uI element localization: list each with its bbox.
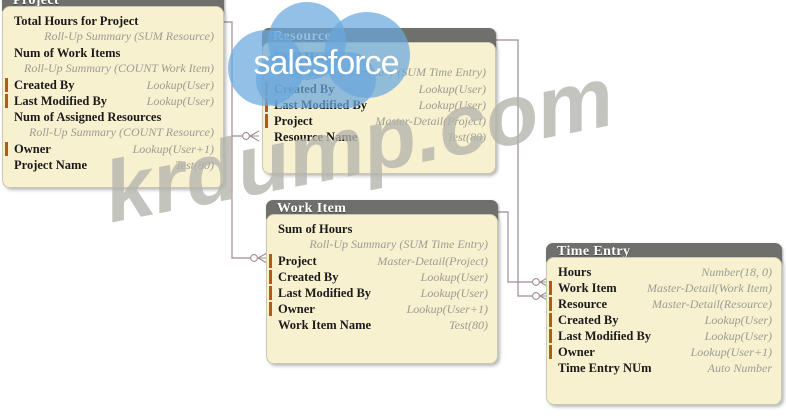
field-list: Total Hours for Project Roll-Up Summary … <box>3 13 223 173</box>
field-row[interactable]: Total Hours for Project Roll-Up Summary … <box>3 13 223 45</box>
field-type: Number(18, 0) <box>701 264 772 280</box>
field-name: Created By <box>558 312 619 328</box>
field-type: Master-Detail(Project) <box>377 253 488 269</box>
field-list: Hours Number(18, 0) Work Item Master-Det… <box>547 264 781 376</box>
relationship-marker-icon <box>549 329 552 343</box>
field-type: Roll-Up Summary (SUM Time Entry) <box>309 236 488 252</box>
field-row[interactable]: Created By Lookup(User) <box>547 312 781 328</box>
field-type: Lookup(User) <box>419 97 486 113</box>
field-name: Num of Assigned Resources <box>14 109 161 125</box>
cardinality-zero-marker <box>533 279 540 286</box>
field-row[interactable]: Sum of Hours Roll-Up Summary (SUM Time E… <box>267 221 497 253</box>
field-type: Test(80) <box>447 129 486 145</box>
field-type: Roll-Up Summary (SUM Resource) <box>44 28 214 44</box>
relationship-marker-icon <box>269 254 272 268</box>
field-type: Master-Detail(Resource) <box>652 296 772 312</box>
field-row[interactable]: Num of Work Items Roll-Up Summary (COUNT… <box>3 45 223 77</box>
field-row[interactable]: Created By Lookup(User) <box>3 77 223 93</box>
field-name: Time Entry NUm <box>558 360 652 376</box>
crowsfoot-resource <box>250 131 259 141</box>
relationship-marker-icon <box>269 286 272 300</box>
field-row[interactable]: Last Modified By Lookup(User) <box>547 328 781 344</box>
relationship-marker-icon <box>5 142 8 156</box>
field-name: Last Modified By <box>278 285 371 301</box>
field-row[interactable]: Work Item Master-Detail(Work Item) <box>547 280 781 296</box>
cardinality-zero-marker <box>243 133 250 140</box>
field-row[interactable]: Resource Master-Detail(Resource) <box>547 296 781 312</box>
field-name: Owner <box>14 141 51 157</box>
field-list: Sum of Hours Roll-Up Summary (SUM Time E… <box>267 221 497 333</box>
field-name: Work Item <box>558 280 617 296</box>
field-row[interactable]: Work Item Name Test(80) <box>267 317 497 333</box>
field-row[interactable]: Resource Name Test(80) <box>263 129 495 145</box>
field-name: Num of Work Items <box>14 45 120 61</box>
field-type: Auto Number <box>708 360 772 376</box>
link-project-workitem <box>232 136 258 258</box>
field-row[interactable]: Hours Number(18, 0) <box>547 264 781 280</box>
field-row[interactable]: Owner Lookup(User+1) <box>267 301 497 317</box>
field-type: Roll-Up Summary (COUNT Resource) <box>29 124 214 140</box>
salesforce-wordmark: salesforce <box>234 44 418 83</box>
field-name: Resource Name <box>274 129 357 145</box>
field-name: Created By <box>14 77 75 93</box>
relationship-marker-icon <box>269 270 272 284</box>
relationship-marker-icon <box>549 313 552 327</box>
field-type: Lookup(User+1) <box>691 344 772 360</box>
field-name: Sum of Hours <box>278 221 352 237</box>
cardinality-zero-marker <box>533 293 540 300</box>
field-type: Master-Detail(Work Item) <box>647 280 772 296</box>
field-row[interactable]: Project Name Test(80) <box>3 157 223 173</box>
relationship-marker-icon <box>549 281 552 295</box>
entity-time-entry[interactable]: Time Entry Hours Number(18, 0) Work Item… <box>546 243 782 405</box>
field-type: Lookup(User) <box>705 312 772 328</box>
relationship-marker-icon <box>549 297 552 311</box>
relationship-marker-icon <box>269 302 272 316</box>
entity-body: Hours Number(18, 0) Work Item Master-Det… <box>546 257 782 405</box>
field-type: Lookup(User+1) <box>133 141 214 157</box>
field-name: Hours <box>558 264 591 280</box>
entity-project[interactable]: Project Total Hours for Project Roll-Up … <box>2 0 224 188</box>
field-row[interactable]: Owner Lookup(User+1) <box>3 141 223 157</box>
cardinality-zero-marker <box>251 255 258 262</box>
field-type: Lookup(User) <box>147 93 214 109</box>
field-type: Lookup(User) <box>421 285 488 301</box>
field-row[interactable]: Owner Lookup(User+1) <box>547 344 781 360</box>
field-type: Roll-Up Summary (COUNT Work Item) <box>24 60 214 76</box>
field-row[interactable]: Last Modified By Lookup(User) <box>3 93 223 109</box>
relationship-marker-icon <box>5 94 8 108</box>
field-row[interactable]: Last Modified By Lookup(User) <box>267 285 497 301</box>
field-name: Created By <box>278 269 339 285</box>
field-name: Last Modified By <box>558 328 651 344</box>
salesforce-cloud-logo: salesforce <box>228 0 418 118</box>
entity-body: Total Hours for Project Roll-Up Summary … <box>2 6 224 188</box>
field-name: Project Name <box>14 157 87 173</box>
field-type: Test(80) <box>175 157 214 173</box>
link-resource-timeentry <box>495 40 540 296</box>
field-name: Total Hours for Project <box>14 13 138 29</box>
field-type: Test(80) <box>449 317 488 333</box>
entity-work-item[interactable]: Work Item Sum of Hours Roll-Up Summary (… <box>266 200 498 364</box>
field-type: Lookup(User) <box>147 77 214 93</box>
field-type: Lookup(User) <box>421 269 488 285</box>
relationship-marker-icon <box>5 78 8 92</box>
entity-body: Sum of Hours Roll-Up Summary (SUM Time E… <box>266 214 498 364</box>
field-row[interactable]: Num of Assigned Resources Roll-Up Summar… <box>3 109 223 141</box>
field-name: Work Item Name <box>278 317 371 333</box>
field-name: Last Modified By <box>14 93 107 109</box>
relationship-marker-icon <box>549 345 552 359</box>
field-name: Owner <box>278 301 315 317</box>
field-type: Lookup(User) <box>419 81 486 97</box>
field-name: Owner <box>558 344 595 360</box>
field-row[interactable]: Created By Lookup(User) <box>267 269 497 285</box>
field-row[interactable]: Project Master-Detail(Project) <box>267 253 497 269</box>
field-name: Resource <box>558 296 607 312</box>
field-type: Lookup(User+1) <box>407 301 488 317</box>
erd-canvas: Project Total Hours for Project Roll-Up … <box>0 0 786 416</box>
field-type: Lookup(User) <box>705 328 772 344</box>
field-row[interactable]: Time Entry NUm Auto Number <box>547 360 781 376</box>
field-name: Project <box>278 253 317 269</box>
